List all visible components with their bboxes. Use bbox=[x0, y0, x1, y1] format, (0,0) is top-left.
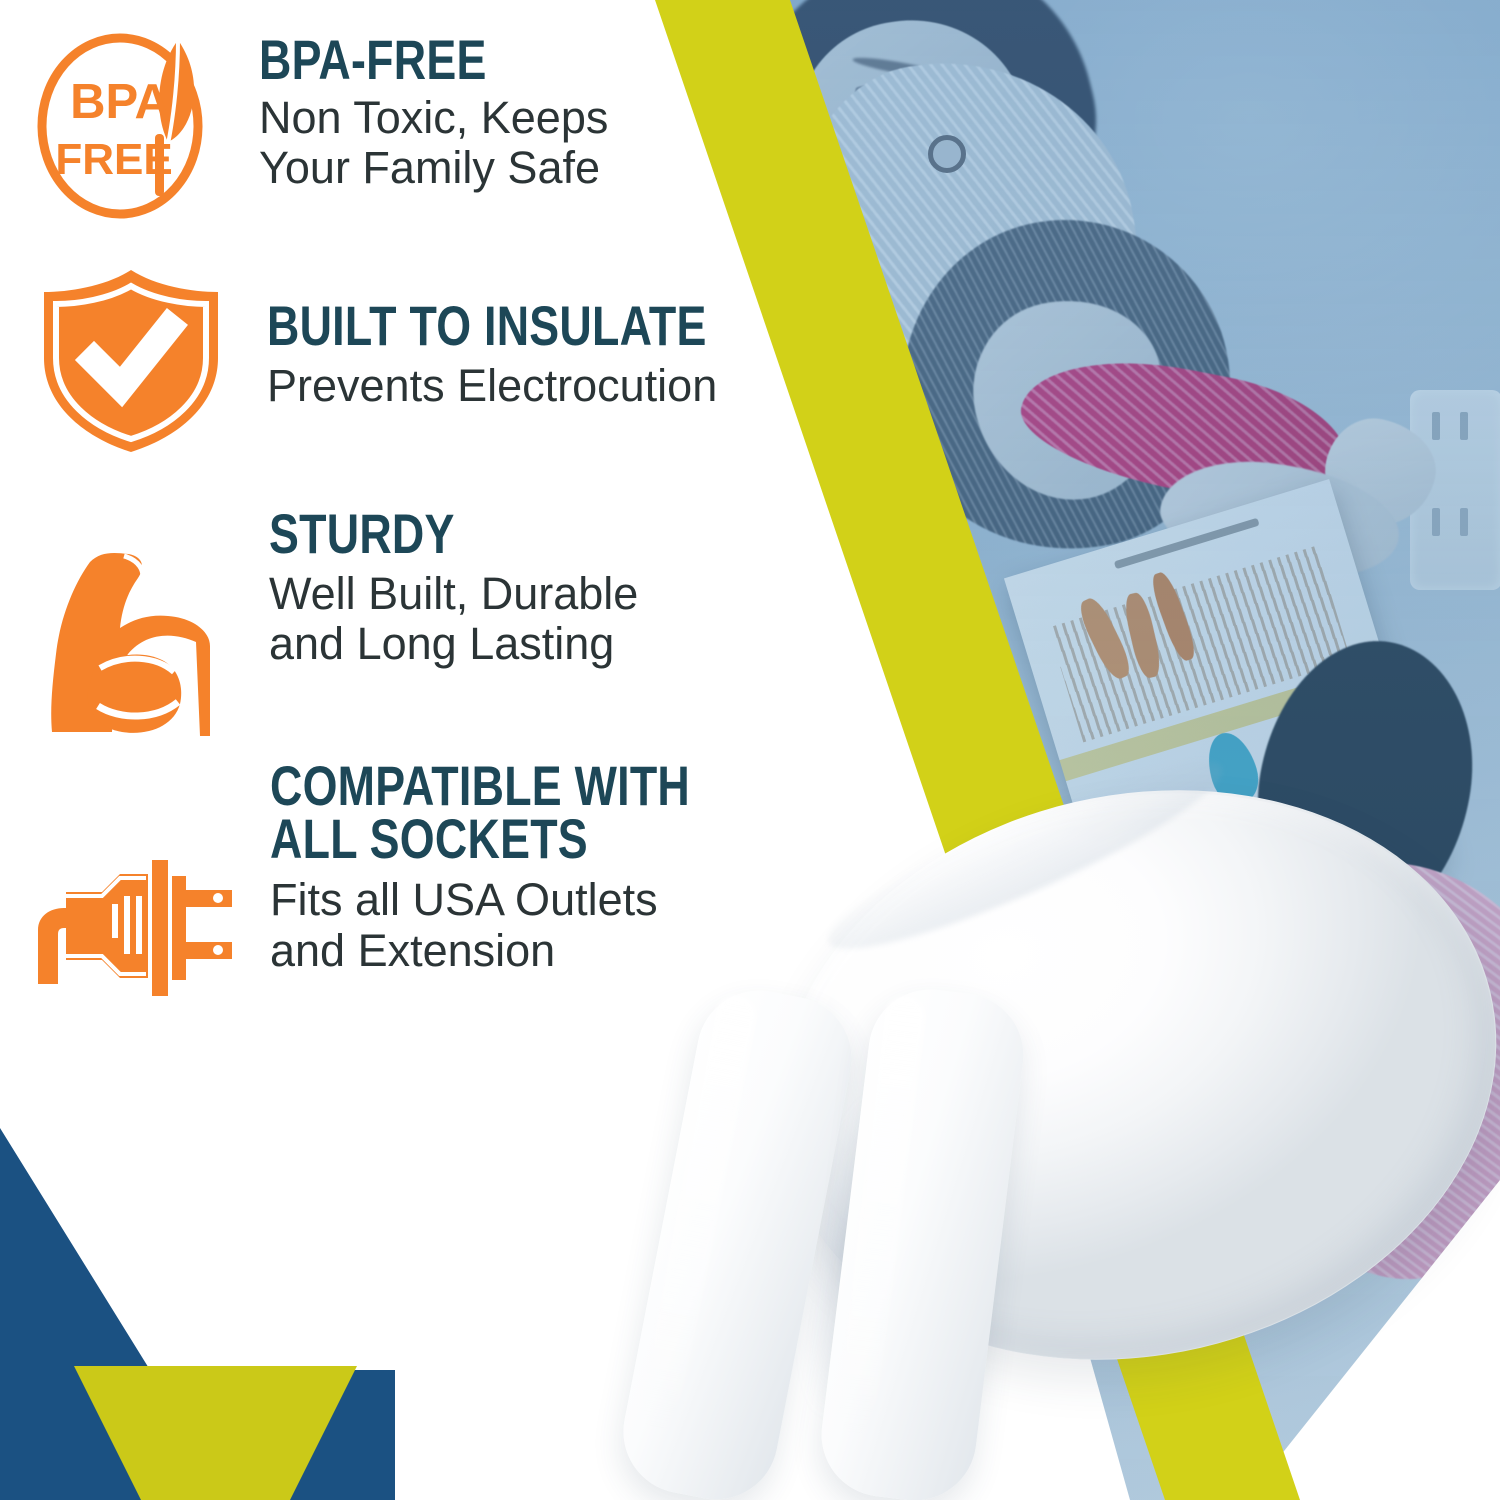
feature-title-built-to-insulate: BUILT TO INSULATE bbox=[267, 300, 707, 353]
flexed-bicep-icon bbox=[28, 496, 233, 755]
feature-subtitle-sturdy: Well Built, Durable and Long Lasting bbox=[269, 569, 638, 670]
bpa-icon-label-top: BPA bbox=[70, 75, 170, 129]
feature-title-sturdy: STURDY bbox=[269, 508, 564, 561]
product-feature-infographic: BPA FREE BPA-FREE Non Toxic, Keeps Your … bbox=[0, 0, 1500, 1500]
feature-subtitle-compatible-with-all-sockets: Fits all USA Outlets and Extension bbox=[270, 875, 795, 976]
feature-text-bpa-free: BPA-FREE Non Toxic, Keeps Your Family Sa… bbox=[259, 34, 608, 193]
feature-subtitle-bpa-free: Non Toxic, Keeps Your Family Safe bbox=[259, 93, 608, 194]
shield-check-icon bbox=[28, 262, 233, 461]
feature-title-bpa-free: BPA-FREE bbox=[259, 34, 539, 87]
feature-title-compatible-with-all-sockets: COMPATIBLE WITH ALL SOCKETS bbox=[270, 760, 690, 865]
bpa-free-icon: BPA FREE bbox=[28, 26, 233, 231]
feature-subtitle-built-to-insulate: Prevents Electrocution bbox=[267, 361, 817, 411]
feature-text-sturdy: STURDY Well Built, Durable and Long Last… bbox=[269, 508, 638, 669]
feature-item-built-to-insulate: BUILT TO INSULATE Prevents Electrocution bbox=[28, 262, 817, 461]
feature-item-sturdy: STURDY Well Built, Durable and Long Last… bbox=[28, 496, 638, 755]
feature-list: BPA FREE BPA-FREE Non Toxic, Keeps Your … bbox=[0, 0, 840, 1100]
feature-text-built-to-insulate: BUILT TO INSULATE Prevents Electrocution bbox=[267, 300, 817, 411]
feature-item-compatible-with-all-sockets: COMPATIBLE WITH ALL SOCKETS Fits all USA… bbox=[28, 760, 795, 1007]
electrical-plug-icon bbox=[28, 760, 238, 1007]
feature-item-bpa-free: BPA FREE BPA-FREE Non Toxic, Keeps Your … bbox=[28, 26, 608, 231]
product-prong-right bbox=[815, 982, 1031, 1500]
bpa-icon-label-bottom: FREE bbox=[55, 135, 172, 184]
feature-text-compatible-with-all-sockets: COMPATIBLE WITH ALL SOCKETS Fits all USA… bbox=[270, 760, 795, 976]
